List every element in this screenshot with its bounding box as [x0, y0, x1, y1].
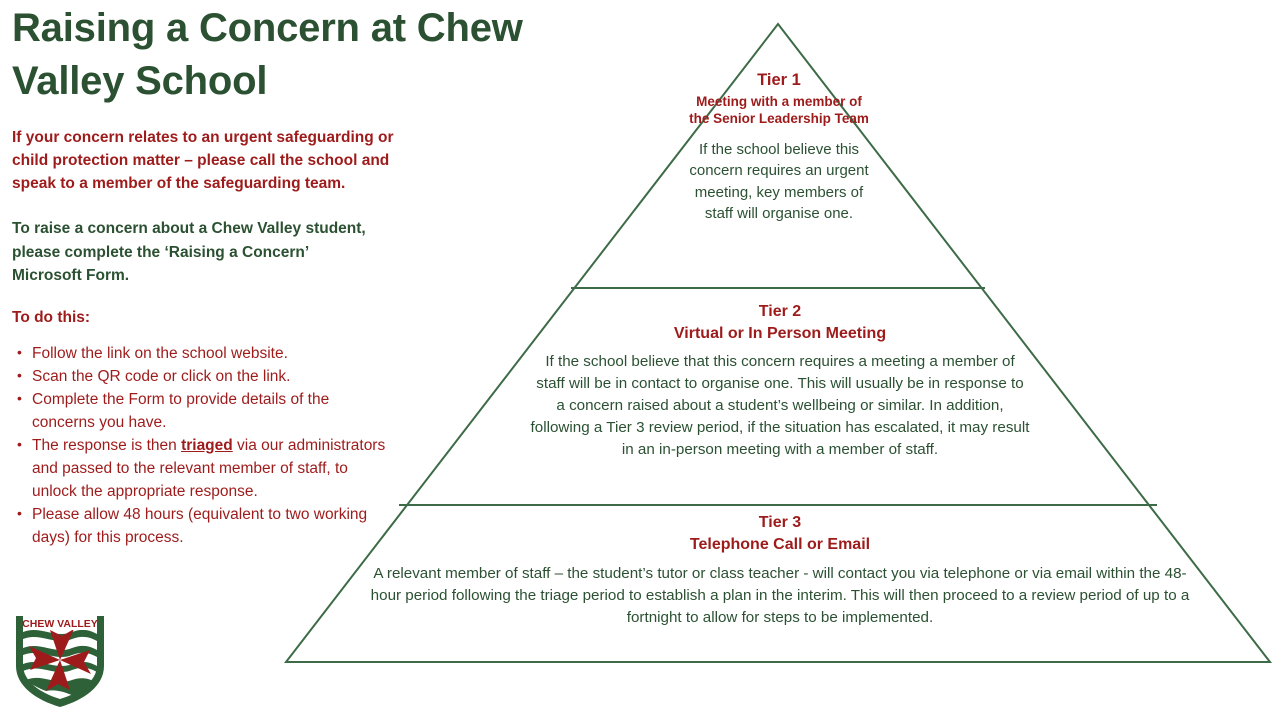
list-item-text: Scan the QR code or click on the link. [32, 368, 290, 385]
school-crest-logo: CHEW VALLEY [10, 610, 110, 710]
crest-banner-text: CHEW VALLEY [22, 618, 98, 630]
tier-3-subtitle: Telephone Call or Email [365, 535, 1195, 555]
tier-2-body: If the school believe that this concern … [530, 351, 1030, 460]
tier-2-title: Tier 2 [530, 302, 1030, 322]
list-item-emphasis: triaged [181, 437, 233, 454]
tier-1-body: If the school believe this concern requi… [689, 139, 869, 225]
slide-canvas: Raising a Concern at Chew Valley School … [0, 0, 1278, 717]
tier-2-subtitle: Virtual or In Person Meeting [530, 324, 1030, 344]
tier-1-title: Tier 1 [689, 70, 869, 91]
tier-2-block: Tier 2 Virtual or In Person Meeting If t… [530, 302, 1030, 460]
tier-3-body: A relevant member of staff – the student… [365, 563, 1195, 629]
tier-1-block: Tier 1 Meeting with a member of the Seni… [689, 70, 869, 225]
tier-3-block: Tier 3 Telephone Call or Email A relevan… [365, 513, 1195, 629]
list-item-text: Follow the link on the school website. [32, 345, 288, 362]
tier-pyramid-diagram: Tier 1 Meeting with a member of the Seni… [275, 8, 1278, 688]
tier-1-subtitle: Meeting with a member of the Senior Lead… [689, 93, 869, 128]
tier-3-title: Tier 3 [365, 513, 1195, 533]
crest-icon: CHEW VALLEY [10, 610, 110, 710]
list-item-text: The response is then [32, 437, 181, 454]
